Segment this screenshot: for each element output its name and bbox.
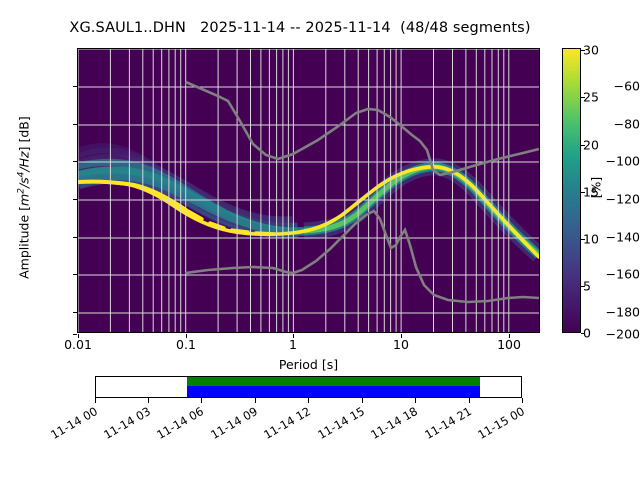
y-tick-mark xyxy=(73,86,77,87)
y-tick-mark xyxy=(73,334,77,335)
time-tick-mark xyxy=(255,398,256,403)
ppsd-canvas xyxy=(78,49,539,332)
colorbar-tick-mark xyxy=(581,286,585,287)
x-tick-mark xyxy=(186,334,187,338)
ppsd-density xyxy=(78,148,539,257)
x-tick-label: 0.1 xyxy=(176,337,196,352)
x-tick-mark xyxy=(78,334,79,338)
y-axis-label: Amplitude [m2/s4/Hz] [dB] xyxy=(16,88,31,308)
time-tick-mark xyxy=(415,398,416,403)
ppsd-plot-area[interactable] xyxy=(77,48,540,333)
time-tick-mark xyxy=(201,398,202,403)
colorbar-tick-mark xyxy=(581,239,585,240)
nhnm-curve xyxy=(186,82,539,175)
x-tick-mark xyxy=(509,334,510,338)
time-tick-mark xyxy=(469,398,470,403)
x-tick-label: 1 xyxy=(289,337,297,352)
time-tick-mark xyxy=(522,398,523,403)
ppsd-figure: XG.SAUL1..DHN 2025-11-14 -- 2025-11-14 (… xyxy=(0,0,640,480)
x-axis-label: Period [s] xyxy=(77,357,540,372)
y-axis-label-text: Amplitude [m2/s4/Hz] [dB] xyxy=(17,116,32,279)
x-tick-label: 100 xyxy=(497,337,521,352)
colorbar-tick-mark xyxy=(581,97,585,98)
colorbar-tick-mark xyxy=(581,333,585,334)
colorbar-tick-mark xyxy=(581,50,585,51)
x-tick-label: 10 xyxy=(393,337,409,352)
coverage-green-band xyxy=(187,377,479,386)
y-axis: Amplitude [m2/s4/Hz] [dB] xyxy=(0,0,72,480)
colorbar-tick-label: 20 xyxy=(583,138,599,153)
time-tick-mark xyxy=(362,398,363,403)
x-tick-label: 0.01 xyxy=(64,337,92,352)
y-tick-mark xyxy=(73,161,77,162)
colorbar[interactable] xyxy=(562,48,581,333)
colorbar-tick-mark xyxy=(581,145,585,146)
colorbar-label: [%] xyxy=(589,158,604,218)
colorbar-tick-label: 30 xyxy=(583,43,599,58)
y-tick-mark xyxy=(73,312,77,313)
y-tick-mark xyxy=(73,274,77,275)
colorbar-tick-mark xyxy=(581,192,585,193)
time-tick-mark xyxy=(148,398,149,403)
time-tick-mark xyxy=(308,398,309,403)
x-tick-mark xyxy=(293,334,294,338)
figure-title: XG.SAUL1..DHN 2025-11-14 -- 2025-11-14 (… xyxy=(0,20,600,36)
colorbar-tick-label: 10 xyxy=(583,232,599,247)
data-coverage-bar[interactable] xyxy=(95,376,522,398)
colorbar-tick-label: 25 xyxy=(583,90,599,105)
y-tick-mark xyxy=(73,237,77,238)
x-tick-mark xyxy=(401,334,402,338)
coverage-blue-band xyxy=(187,386,479,397)
y-tick-mark xyxy=(73,199,77,200)
y-tick-mark xyxy=(73,124,77,125)
time-tick-mark xyxy=(95,398,96,403)
